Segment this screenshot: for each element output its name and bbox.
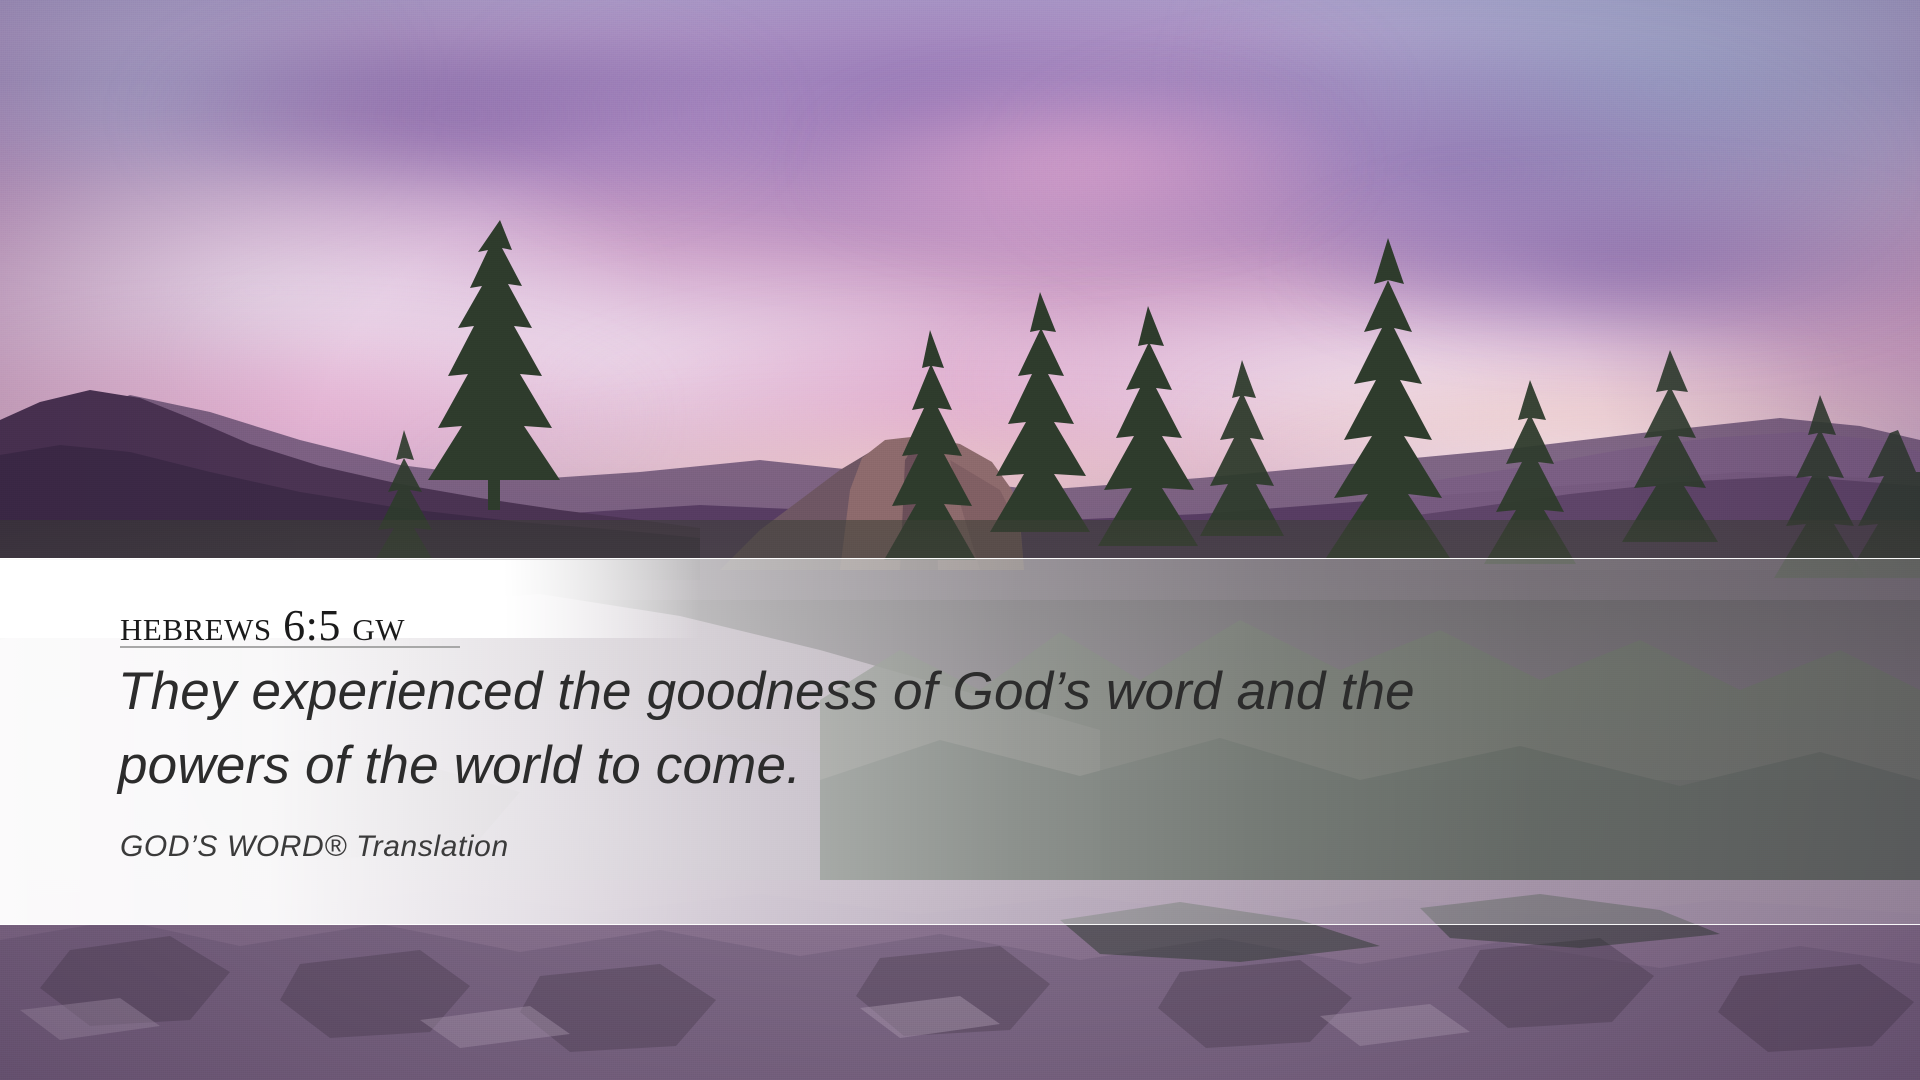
translation-attribution: GOD’S WORD® Translation [120, 830, 509, 864]
reference-underline-rule [120, 646, 460, 648]
verse-reference: Hebrews 6:5 GW [120, 600, 405, 651]
verse-text: They experienced the goodness of God’s w… [118, 655, 1498, 803]
wallpaper-canvas: Hebrews 6:5 GW They experienced the good… [0, 0, 1920, 1080]
